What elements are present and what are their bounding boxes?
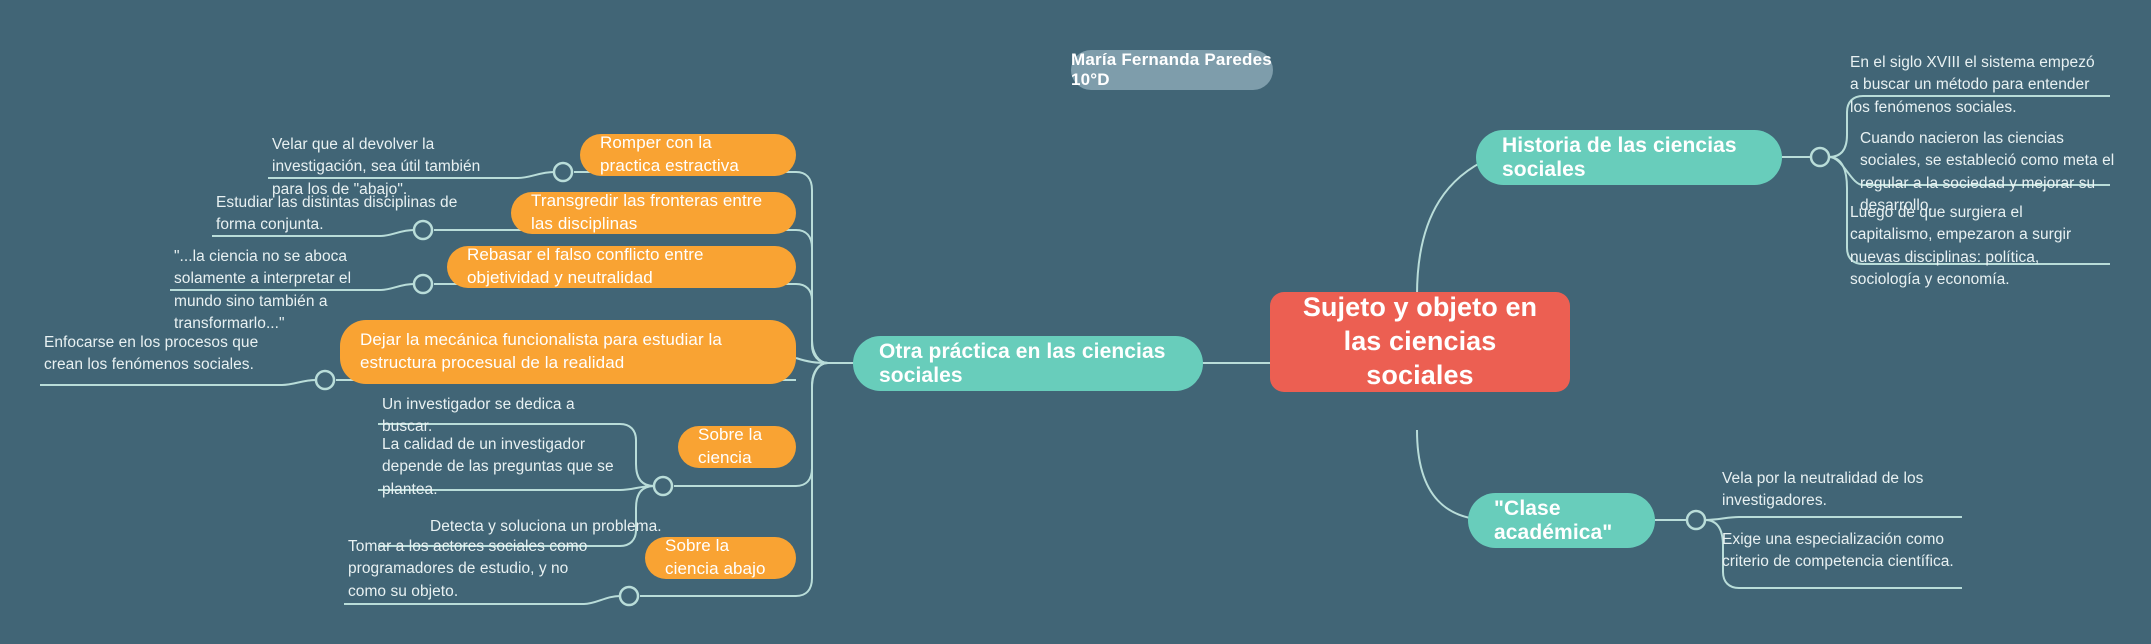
note-calidad-investigador-preguntas: La calidad de un investigador depende de… [382, 434, 632, 501]
note-tomar-actores-sociales: Tomar a los actores sociales como progra… [348, 536, 600, 603]
link-branch-4 [796, 358, 828, 363]
joint-branch-4 [316, 371, 334, 389]
link-branch-6 [796, 363, 828, 596]
leaf-node-sobre-la-ciencia-abajo[interactable]: Sobre la ciencia abajo [645, 537, 796, 579]
author-title-pill: María Fernanda Paredes 10°D [1071, 50, 1273, 90]
note-enfocarse-procesos-fenomenos: Enfocarse en los procesos que crean los … [44, 332, 288, 377]
joint-clase [1687, 511, 1705, 529]
note-vela-neutralidad-investigadores: Vela por la neutralidad de los investiga… [1722, 468, 1962, 513]
link-branch-2 [796, 230, 828, 363]
link-branch-5 [796, 363, 828, 486]
underline-clase-note-1 [1705, 517, 1962, 520]
joint-historia [1811, 148, 1829, 166]
link-branch-1 [796, 172, 828, 363]
leaf-node-rebasar-falso-conflicto[interactable]: Rebasar el falso conflicto entre objetiv… [447, 246, 796, 288]
link-center-to-historia [1417, 158, 1490, 295]
branch-node-historia[interactable]: Historia de las ciencias sociales [1476, 130, 1782, 185]
note-investigador-se-dedica-buscar: Un investigador se dedica a buscar. [382, 394, 622, 439]
note-siglo-xviii-metodo: En el siglo XVIII el sistema empezó a bu… [1850, 52, 2105, 119]
note-capitalismo-nuevas-disciplinas: Luego de que surgiera el capitalismo, em… [1850, 202, 2106, 292]
joint-branch-1 [554, 163, 572, 181]
link-branch-3 [796, 284, 828, 363]
branch-node-clase-academica[interactable]: "Clase académica" [1468, 493, 1655, 548]
underline-note-4 [40, 380, 316, 385]
note-exige-especializacion-criterio: Exige una especialización como criterio … [1722, 529, 1967, 574]
joint-branch-5 [654, 477, 672, 495]
leaf-node-dejar-mecanica-funcionalista[interactable]: Dejar la mecánica funcionalista para est… [340, 320, 796, 384]
joint-branch-3 [414, 275, 432, 293]
note-ciencia-no-se-aboca: "...la ciencia no se aboca solamente a i… [174, 246, 402, 336]
mindmap-canvas: María Fernanda Paredes 10°D Sujeto y obj… [0, 0, 2151, 644]
joint-branch-6 [620, 587, 638, 605]
branch-node-otra-practica[interactable]: Otra práctica en las ciencias sociales [853, 336, 1203, 391]
leaf-node-sobre-la-ciencia[interactable]: Sobre la ciencia [678, 426, 796, 468]
center-node-sujeto-y-objeto[interactable]: Sujeto y objeto en las ciencias sociales [1270, 292, 1570, 392]
leaf-node-romper-practica-estractiva[interactable]: Romper con la practica estractiva [580, 134, 796, 176]
leaf-node-transgredir-fronteras[interactable]: Transgredir las fronteras entre las disc… [511, 192, 796, 234]
note-estudiar-disciplinas-conjunta: Estudiar las distintas disciplinas de fo… [216, 192, 466, 237]
